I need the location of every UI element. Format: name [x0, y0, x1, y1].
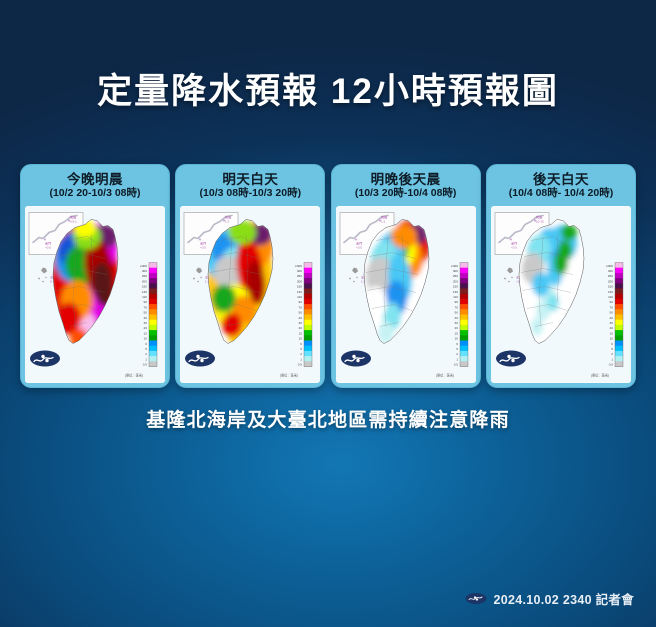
svg-text:50: 50	[299, 311, 303, 315]
svg-text:15: 15	[144, 331, 148, 335]
svg-text:150: 150	[452, 285, 457, 289]
svg-text:1-2: 1-2	[225, 220, 230, 224]
svg-text:10: 10	[454, 337, 458, 341]
svg-text:5: 5	[611, 347, 613, 351]
panel-period: (10/3 08時-10/3 20時)	[200, 188, 302, 200]
svg-text:70: 70	[610, 305, 614, 309]
svg-text:40: 40	[454, 316, 458, 320]
svg-text:200: 200	[608, 279, 613, 283]
forecast-panel-3[interactable]: 明晚後天晨(10/3 20時-10/4 08時) 馬祖 1-2 金門 <0.5 …	[331, 164, 481, 388]
svg-text:6: 6	[145, 342, 147, 346]
svg-text:110: 110	[608, 295, 613, 299]
precipitation-map: 馬祖 0.5-1 金門 <0.5 澎湖 5-10	[25, 206, 165, 383]
svg-text:0.5: 0.5	[453, 363, 458, 367]
forecast-panel-4[interactable]: 後天白天(10/4 08時- 10/4 20時) 馬祖 10-15 金門 <0.…	[486, 164, 636, 388]
svg-text:2: 2	[301, 352, 303, 356]
panel-heading: 明天白天	[222, 172, 278, 187]
legend-unit: (單位：毫米)	[280, 373, 298, 378]
svg-text:≥300: ≥300	[606, 264, 613, 268]
svg-text:50: 50	[610, 311, 614, 315]
svg-text:110: 110	[142, 295, 147, 299]
panel-header-1: 今晚明晨(10/2 20-10/3 08時)	[21, 165, 169, 206]
svg-text:300: 300	[297, 269, 302, 273]
footer: 2024.10.02 2340 記者會	[465, 589, 634, 608]
svg-text:15: 15	[454, 331, 458, 335]
forecast-panel-1[interactable]: 今晚明晨(10/2 20-10/3 08時) 馬祖 0.5-1 金門 <0.5 …	[20, 164, 170, 388]
svg-text:20: 20	[454, 326, 458, 330]
svg-text:6: 6	[456, 342, 458, 346]
svg-text:130: 130	[297, 290, 302, 294]
cwa-logo-icon	[30, 351, 60, 367]
svg-text:0.5: 0.5	[143, 363, 148, 367]
legend-unit: (單位：毫米)	[436, 373, 454, 378]
svg-text:250: 250	[142, 274, 147, 278]
svg-text:130: 130	[142, 290, 147, 294]
svg-text:50: 50	[454, 311, 458, 315]
svg-text:70: 70	[454, 305, 458, 309]
svg-text:6: 6	[611, 342, 613, 346]
panel-period: (10/4 08時- 10/4 20時)	[509, 188, 613, 200]
svg-text:200: 200	[142, 279, 147, 283]
svg-text:20: 20	[610, 326, 614, 330]
svg-text:130: 130	[452, 290, 457, 294]
svg-text:70: 70	[144, 305, 148, 309]
svg-text:30: 30	[610, 321, 614, 325]
svg-text:≥300: ≥300	[295, 264, 302, 268]
svg-text:50: 50	[144, 311, 148, 315]
forecast-panel-row: 今晚明晨(10/2 20-10/3 08時) 馬祖 0.5-1 金門 <0.5 …	[20, 164, 636, 386]
svg-text:5: 5	[145, 347, 147, 351]
svg-text:40: 40	[299, 316, 303, 320]
svg-text:70: 70	[299, 305, 303, 309]
svg-text:200: 200	[452, 279, 457, 283]
svg-text:1: 1	[611, 357, 613, 361]
svg-text:300: 300	[452, 269, 457, 273]
panel-heading: 今晚明晨	[67, 172, 123, 187]
map-canvas: 馬祖 1-2 金門 <0.5 澎湖 1-2	[180, 206, 320, 383]
svg-text:150: 150	[297, 285, 302, 289]
svg-text:1: 1	[456, 357, 458, 361]
svg-text:250: 250	[452, 274, 457, 278]
svg-text:≥300: ≥300	[451, 264, 458, 268]
svg-text:≥300: ≥300	[140, 264, 147, 268]
svg-text:5: 5	[301, 347, 303, 351]
svg-text:<0.5: <0.5	[45, 246, 51, 250]
svg-text:30: 30	[454, 321, 458, 325]
cwa-logo-icon	[465, 592, 487, 605]
svg-text:150: 150	[608, 285, 613, 289]
svg-text:90: 90	[144, 300, 148, 304]
panel-map-body-2[interactable]: 馬祖 1-2 金門 <0.5 澎湖 1-2	[180, 206, 320, 383]
svg-text:20: 20	[144, 326, 148, 330]
panel-heading: 明晚後天晨	[371, 172, 441, 187]
svg-text:10: 10	[299, 337, 303, 341]
panel-heading: 後天白天	[533, 172, 589, 187]
svg-text:30: 30	[144, 321, 148, 325]
svg-text:250: 250	[297, 274, 302, 278]
svg-text:40: 40	[610, 316, 614, 320]
footer-timestamp: 2024.10.02 2340 記者會	[493, 589, 634, 608]
svg-text:<0.5: <0.5	[200, 246, 206, 250]
svg-text:2: 2	[611, 352, 613, 356]
panel-header-3: 明晚後天晨(10/3 20時-10/4 08時)	[332, 165, 480, 206]
svg-text:2: 2	[145, 352, 147, 356]
svg-text:300: 300	[608, 269, 613, 273]
svg-text:110: 110	[297, 295, 302, 299]
svg-text:10-15: 10-15	[536, 220, 544, 224]
legend-unit: (單位：毫米)	[125, 373, 143, 378]
svg-text:110: 110	[453, 295, 458, 299]
svg-text:300: 300	[142, 269, 147, 273]
svg-text:0.5: 0.5	[609, 363, 614, 367]
svg-text:40: 40	[144, 316, 148, 320]
panel-header-4: 後天白天(10/4 08時- 10/4 20時)	[487, 165, 635, 206]
svg-text:<0.5: <0.5	[511, 246, 517, 250]
page-title: 定量降水預報 12小時預報圖	[0, 63, 656, 114]
panel-map-body-1[interactable]: 馬祖 0.5-1 金門 <0.5 澎湖 5-10	[25, 206, 165, 383]
svg-text:1: 1	[145, 357, 147, 361]
cwa-logo-icon	[341, 351, 371, 367]
svg-text:200: 200	[297, 279, 302, 283]
map-canvas: 馬祖 0.5-1 金門 <0.5 澎湖 5-10	[25, 206, 165, 383]
map-canvas: 馬祖 10-15 金門 <0.5 澎湖 <0.5	[491, 206, 631, 383]
svg-text:150: 150	[142, 285, 147, 289]
svg-text:<0.5: <0.5	[356, 246, 362, 250]
precipitation-map: 馬祖 1-2 金門 <0.5 澎湖 1-2	[180, 206, 320, 383]
svg-text:250: 250	[608, 274, 613, 278]
svg-text:90: 90	[299, 300, 303, 304]
svg-text:0.5-1: 0.5-1	[70, 220, 77, 224]
map-canvas: 馬祖 1-2 金門 <0.5 澎湖 1-2	[336, 206, 476, 383]
svg-text:10: 10	[610, 337, 614, 341]
svg-text:1: 1	[301, 357, 303, 361]
panel-header-2: 明天白天(10/3 08時-10/3 20時)	[176, 165, 324, 206]
poster-background: 定量降水預報 12小時預報圖 今晚明晨(10/2 20-10/3 08時) 馬祖…	[0, 0, 656, 627]
cwa-logo-icon	[185, 351, 215, 367]
svg-text:90: 90	[454, 300, 458, 304]
svg-text:20: 20	[299, 326, 303, 330]
svg-text:15: 15	[299, 331, 303, 335]
svg-text:90: 90	[610, 300, 614, 304]
precipitation-map: 馬祖 1-2 金門 <0.5 澎湖 1-2	[336, 206, 476, 383]
panel-period: (10/3 20時-10/4 08時)	[355, 188, 457, 200]
svg-text:130: 130	[608, 290, 613, 294]
panel-map-body-4[interactable]: 馬祖 10-15 金門 <0.5 澎湖 <0.5	[491, 206, 631, 383]
svg-text:0.5: 0.5	[298, 363, 303, 367]
advisory-caption: 基隆北海岸及大臺北地區需持續注意降雨	[0, 405, 656, 432]
svg-text:30: 30	[299, 321, 303, 325]
svg-text:15: 15	[610, 331, 614, 335]
legend-unit: (單位：毫米)	[591, 373, 609, 378]
svg-text:6: 6	[301, 342, 303, 346]
svg-text:2: 2	[456, 352, 458, 356]
svg-text:1-2: 1-2	[381, 220, 386, 224]
svg-text:10: 10	[144, 337, 148, 341]
cwa-logo-icon	[496, 351, 526, 367]
forecast-panel-2[interactable]: 明天白天(10/3 08時-10/3 20時) 馬祖 1-2 金門 <0.5 澎…	[175, 164, 325, 388]
panel-map-body-3[interactable]: 馬祖 1-2 金門 <0.5 澎湖 1-2	[336, 206, 476, 383]
precipitation-map: 馬祖 10-15 金門 <0.5 澎湖 <0.5	[491, 206, 631, 383]
svg-text:5: 5	[456, 347, 458, 351]
panel-period: (10/2 20-10/3 08時)	[49, 188, 140, 200]
